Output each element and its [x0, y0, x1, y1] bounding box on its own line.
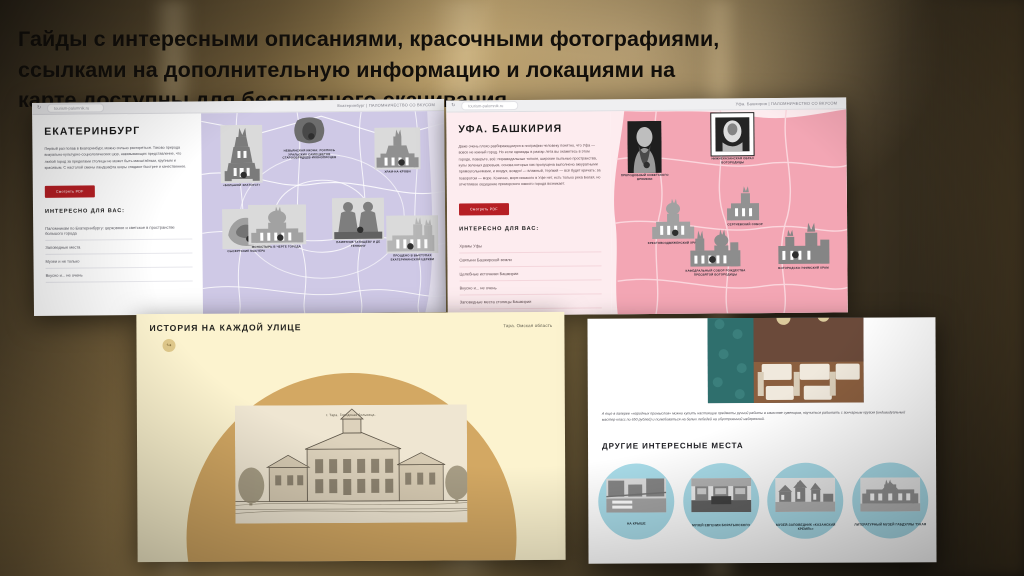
reload-icon[interactable]: ↻	[451, 103, 456, 108]
poi-caption: ПРОЩЕНО В ВЫСТУПАХ ЕКАТЕРИНИНСКОЙ ЦЕРКВИ	[384, 254, 440, 262]
screenshot-panel-ufa: ↻ tourism-palomnik.ru Уфа. Башкирия | ПА…	[446, 97, 848, 315]
church-photo	[774, 222, 832, 266]
kremlin-photo	[775, 478, 835, 512]
poi-caption: СЕРГИЕВСКИЙ СОБОР	[717, 223, 773, 227]
places-row: НА КРЫШЕ МУЗЕЙ ЕВГЕНИЯ БОРАТЫНСКОГО	[598, 462, 928, 532]
place-caption: ЛИТЕРАТУРНЫЙ МУЗЕЙ ГАБДУЛЛЫ ТУКАЯ	[852, 522, 928, 526]
address-bar[interactable]: tourism-palomnik.ru	[47, 103, 104, 113]
screenshot-panel-kazan: А еще в галерее «народных промыслов» мож…	[587, 317, 936, 564]
list-item[interactable]: Заповедные места	[45, 240, 192, 255]
church-photo	[220, 125, 263, 183]
article-column: ЕКАТЕРИНБУРГ Первый раз попав в Екатерин…	[32, 113, 203, 316]
interesting-heading: ИНТЕРЕСНО ДЛЯ ВАС:	[459, 225, 601, 232]
poi-caption: КАФЕДРАЛЬНЫЙ СОБОР РОЖДЕСТВА ПРЕСВЯТОЙ Б…	[683, 269, 747, 277]
place-caption: МУЗЕЙ ЕВГЕНИЯ БОРАТЫНСКОГО	[683, 523, 759, 527]
map-poi[interactable]: ПАМЯТНИК ТАТИЩЕВУ И ДЕ ГЕННИНУ	[330, 198, 386, 249]
intro-paragraph: Первый раз попав в Екатеринбург, можно с…	[44, 144, 191, 171]
place-caption: НА КРЫШЕ	[598, 521, 674, 525]
address-bar[interactable]: tourism-palomnik.ru	[461, 101, 518, 110]
interior-hero-photo	[707, 317, 863, 403]
page-title: ЕКАТЕРИНБУРГ	[44, 124, 191, 137]
other-places-heading: ДРУГИЕ ИНТЕРЕСНЫЕ МЕСТА	[602, 441, 744, 451]
historical-engraving	[235, 404, 468, 523]
place-card[interactable]: ЛИТЕРАТУРНЫЙ МУЗЕЙ ГАБДУЛЛЫ ТУКАЯ	[852, 462, 928, 531]
icon-photo	[289, 116, 329, 148]
page-title: УФА. БАШКИРИЯ	[458, 122, 600, 135]
presentation-slide: Гайды с интересными описаниями, красочны…	[0, 0, 1024, 576]
mansion-photo	[860, 477, 920, 511]
monastery-photo	[248, 204, 306, 245]
place-card[interactable]: НА КРЫШЕ	[598, 463, 674, 532]
image-caption: г. Тара. Городская больница.	[326, 413, 376, 417]
list-item[interactable]: Музеи и не только	[45, 254, 192, 269]
map-poi[interactable]: НИЖНЕКАЗАНСКАЯ ОБРАЗ БОГОРОДИЦЫ	[704, 112, 760, 165]
intro-paragraph: Даже очень плохо разбирающемуся в геогра…	[458, 142, 600, 188]
place-caption: МУЗЕЙ-ЗАПОВЕДНИК «КАЗАНСКИЙ КРЕМЛЬ»	[768, 523, 844, 532]
monument-photo	[332, 198, 384, 240]
list-item[interactable]: Храмы Уфы	[459, 238, 601, 253]
site-title: Екатеринбург | ПАЛОМНИЧЕСТВО СО ВКУСОМ	[337, 102, 439, 108]
headline-line-2: ссылками на дополнительную информацию и …	[18, 55, 798, 86]
share-icon[interactable]: ↪	[162, 339, 175, 352]
map-poi[interactable]: МОНАСТЫРЬ В ЧЕРТЕ ГОРОДА	[248, 204, 304, 249]
cathedral-photo	[374, 127, 420, 169]
cathedral-photo	[686, 228, 744, 268]
panel-header: ИСТОРИЯ НА КАЖДОЙ УЛИЦЕ ↪ Тара. Омская о…	[136, 312, 564, 352]
site-title: Уфа. Башкирия | ПАЛОМНИЧЕСТВО СО ВКУСОМ	[736, 100, 842, 106]
map-poi[interactable]: НЕВЬЯНСКАЯ ИКОНА: РОСПИСЬ УРАЛЬСКИХ САМО…	[277, 116, 341, 160]
poi-caption: НЕВЬЯНСКАЯ ИКОНА: РОСПИСЬ УРАЛЬСКИХ САМО…	[277, 149, 341, 160]
reload-icon[interactable]: ↻	[37, 106, 42, 111]
map-poi[interactable]: ПРЕПОДОБНЫЙ СОВЕТСКОГО ВРЕМЕНИ	[616, 121, 672, 182]
portrait-photo	[627, 121, 661, 173]
chapel-photo	[386, 215, 438, 253]
gallery-paragraph: А еще в галерее «народных промыслов» мож…	[602, 409, 920, 423]
headline-line-1: Гайды с интересными описаниями, красочны…	[18, 24, 798, 55]
interactive-map[interactable]: ПРЕПОДОБНЫЙ СОВЕТСКОГО ВРЕМЕНИ НИЖНЕКАЗА…	[610, 109, 848, 315]
museum-photo	[691, 478, 751, 512]
article-column: УФА. БАШКИРИЯ Даже очень плохо разбирающ…	[446, 111, 612, 315]
poi-caption: «БОЛЬШОЙ ЗЛАТОУСТ»	[214, 184, 270, 188]
poi-caption: СЫСЕРТСКИЕ МАСТЕРА	[218, 250, 274, 254]
list-item[interactable]: Святыни Башкирской земли	[459, 252, 601, 267]
poi-caption: ПРЕПОДОБНЫЙ СОВЕТСКОГО ВРЕМЕНИ	[617, 174, 673, 182]
interesting-heading: ИНТЕРЕСНО ДЛЯ ВАС:	[45, 208, 192, 215]
map-poi[interactable]: БОГОРОДСКО-УФИМСКИЙ ХРАМ	[771, 222, 835, 271]
list-item[interactable]: Вкусно и... не очень	[46, 268, 193, 283]
cathedral-photo	[726, 184, 764, 222]
page-title: ИСТОРИЯ НА КАЖДОЙ УЛИЦЕ	[149, 322, 301, 333]
poi-caption: ХРАМ-НА-КРОВИ	[370, 170, 426, 174]
map-poi[interactable]: КАФЕДРАЛЬНЫЙ СОБОР РОЖДЕСТВА ПРЕСВЯТОЙ Б…	[683, 228, 747, 277]
map-poi[interactable]: ПРОЩЕНО В ВЫСТУПАХ ЕКАТЕРИНИНСКОЙ ЦЕРКВИ	[384, 215, 440, 262]
poi-caption: ПАМЯТНИК ТАТИЩЕВУ И ДЕ ГЕННИНУ	[330, 241, 386, 249]
screenshot-panel-ekaterinburg: ↻ tourism-palomnik.ru Екатеринбург | ПАЛ…	[32, 99, 446, 316]
icon-photo	[710, 112, 754, 156]
poi-caption: БОГОРОДСКО-УФИМСКИЙ ХРАМ	[771, 267, 835, 271]
place-card[interactable]: МУЗЕЙ-ЗАПОВЕДНИК «КАЗАНСКИЙ КРЕМЛЬ»	[767, 463, 843, 532]
map-poi[interactable]: ХРАМ-НА-КРОВИ	[369, 127, 425, 174]
poi-caption: НИЖНЕКАЗАНСКАЯ ОБРАЗ БОГОРОДИЦЫ	[705, 157, 761, 165]
list-item[interactable]: Целебные источники Башкирии	[459, 266, 601, 281]
list-item[interactable]: Заповедные места столицы Башкирии	[460, 294, 602, 309]
view-pdf-button[interactable]: Смотреть PDF	[45, 186, 95, 198]
list-item[interactable]: Вкусно и... не очень	[460, 280, 602, 295]
interactive-map[interactable]: «БОЛЬШОЙ ЗЛАТОУСТ» НЕВЬЯНСКАЯ ИКОНА: РОС…	[201, 111, 446, 315]
list-item[interactable]: Паломникам по Екатеринбургу: церковное и…	[45, 221, 192, 241]
poi-caption: МОНАСТЫРЬ В ЧЕРТЕ ГОРОДА	[248, 245, 304, 249]
view-pdf-button[interactable]: Смотреть PDF	[459, 203, 509, 215]
region-label: Тара. Омская область	[503, 321, 552, 328]
map-poi[interactable]: СЕРГИЕВСКИЙ СОБОР	[717, 184, 773, 227]
map-poi[interactable]: «БОЛЬШОЙ ЗЛАТОУСТ»	[213, 125, 270, 188]
screenshot-panel-tara: ИСТОРИЯ НА КАЖДОЙ УЛИЦЕ ↪ Тара. Омская о…	[136, 312, 565, 562]
place-card[interactable]: МУЗЕЙ ЕВГЕНИЯ БОРАТЫНСКОГО	[683, 463, 759, 532]
rooftop-photo	[606, 478, 666, 512]
